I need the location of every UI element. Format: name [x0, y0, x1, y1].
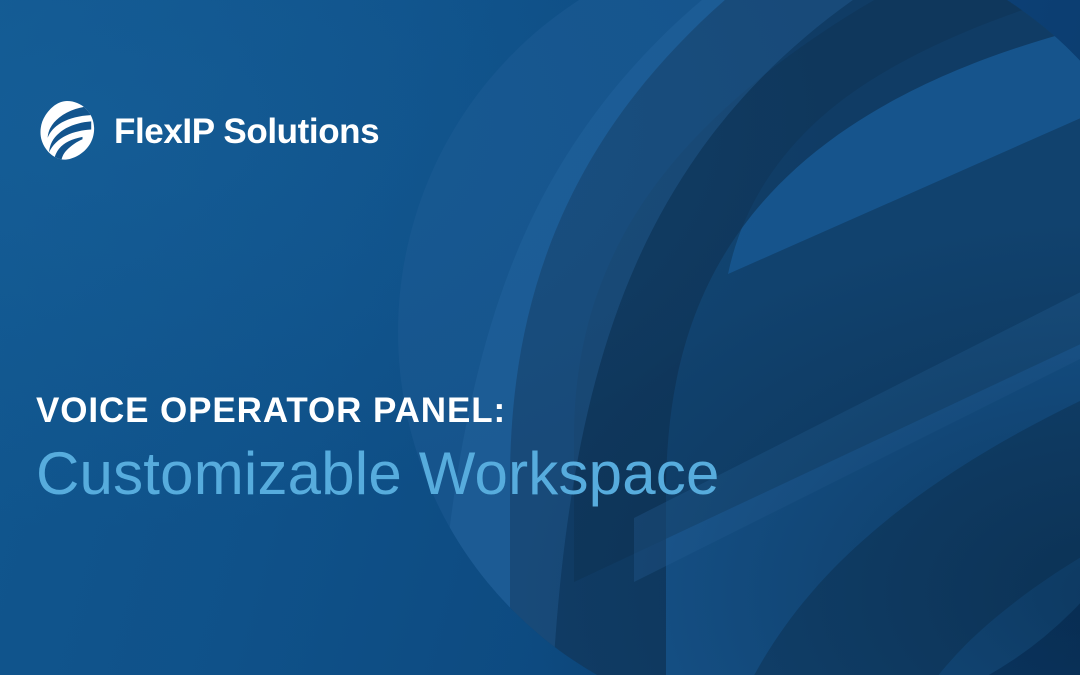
- title-slide: FlexIP Solutions VOICE OPERATOR PANEL: C…: [0, 0, 1080, 675]
- brand-lockup: FlexIP Solutions: [36, 98, 379, 164]
- page-title: VOICE OPERATOR PANEL:: [36, 392, 936, 430]
- headline-block: VOICE OPERATOR PANEL: Customizable Works…: [36, 392, 936, 507]
- brand-wordmark: FlexIP Solutions: [114, 114, 379, 149]
- page-subtitle: Customizable Workspace: [36, 440, 936, 507]
- flexip-feather-mark-icon: [36, 100, 98, 162]
